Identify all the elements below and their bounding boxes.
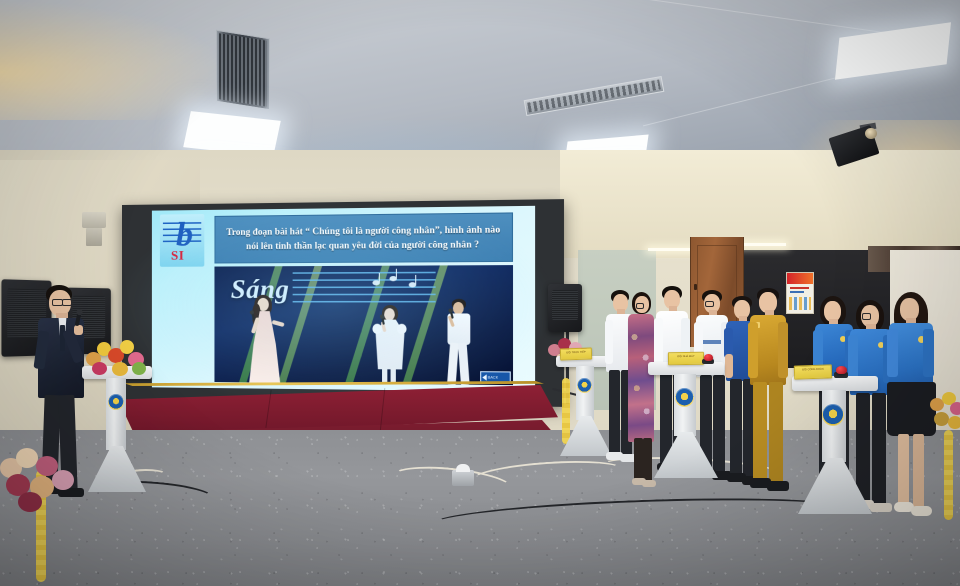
- hand: [74, 325, 83, 335]
- wall-strip-light: [648, 248, 694, 251]
- wall-sensor: [82, 212, 106, 228]
- music-note-icon: [409, 282, 417, 287]
- logo-caption: SI: [171, 248, 184, 264]
- podium-presenter[interactable]: [82, 366, 152, 496]
- ceiling-warm-glow-left: [0, 0, 230, 120]
- led-screen[interactable]: b SI Trong đoạn bài hát “ Chúng tôi là n…: [122, 199, 564, 407]
- wall-poster: [786, 272, 814, 314]
- slide-logo: b SI: [160, 214, 204, 267]
- music-note-icon: [389, 276, 396, 281]
- flower-arrangement-foreground: [0, 448, 80, 512]
- flower-garland: [944, 430, 953, 520]
- poster-line: [790, 287, 809, 289]
- air-vent-icon: [216, 30, 270, 111]
- podium-center[interactable]: ĐỘI NHÀ MÁY: [648, 362, 724, 480]
- buzzer-button[interactable]: [836, 366, 847, 374]
- slide-surface: b SI Trong đoạn bài hát “ Chúng tôi là n…: [152, 206, 535, 392]
- slide-question-text: Trong đoạn bài hát “ Chúng tôi là người …: [222, 223, 506, 254]
- namecard-right: ĐỘI CÔNG ĐOÀN: [794, 364, 832, 379]
- namecard-center: ĐỘI NHÀ MÁY: [668, 352, 704, 366]
- slide-singer-left: [241, 295, 288, 383]
- namecard-left-text: ĐỘI TRỰC TIẾP: [561, 350, 591, 354]
- projector-lens-icon: [865, 128, 877, 139]
- flower-arrangement: [84, 338, 150, 378]
- namecard-left: ĐỘI TRỰC TIẾP: [560, 347, 592, 360]
- poster-line: [790, 291, 804, 293]
- namecard-center-text: ĐỘI NHÀ MÁY: [669, 355, 703, 359]
- pa-speaker: [548, 284, 582, 332]
- music-note-icon: [372, 280, 379, 285]
- wall-soffit: [560, 150, 960, 258]
- contestant-6: [748, 288, 790, 504]
- slide-photo: Sáng: [214, 265, 513, 385]
- buzzer-button[interactable]: [704, 354, 713, 361]
- slide-question-box: Trong đoạn bài hát “ Chúng tôi là người …: [214, 212, 513, 263]
- union-emblem-icon: [822, 404, 844, 426]
- union-emblem-icon: [675, 388, 694, 407]
- slide-back-badge-label: BACK: [488, 375, 498, 379]
- poster-graphics: [789, 297, 811, 310]
- poster-header: [787, 273, 813, 284]
- union-emblem-icon: [577, 378, 592, 393]
- flower-arrangement-right: [930, 392, 960, 432]
- wall-sensor-body: [86, 228, 102, 246]
- union-emblem-icon: [108, 394, 124, 410]
- slide-singer-right: [439, 299, 478, 385]
- floor-junction-box: [452, 470, 474, 486]
- namecard-right-text: ĐỘI CÔNG ĐOÀN: [795, 367, 831, 372]
- slide-singer-middle: [368, 305, 411, 384]
- conference-hall-photo: b SI Trong đoạn bài hát “ Chúng tôi là n…: [0, 0, 960, 586]
- podium-right[interactable]: ĐỘI CÔNG ĐOÀN: [792, 376, 878, 516]
